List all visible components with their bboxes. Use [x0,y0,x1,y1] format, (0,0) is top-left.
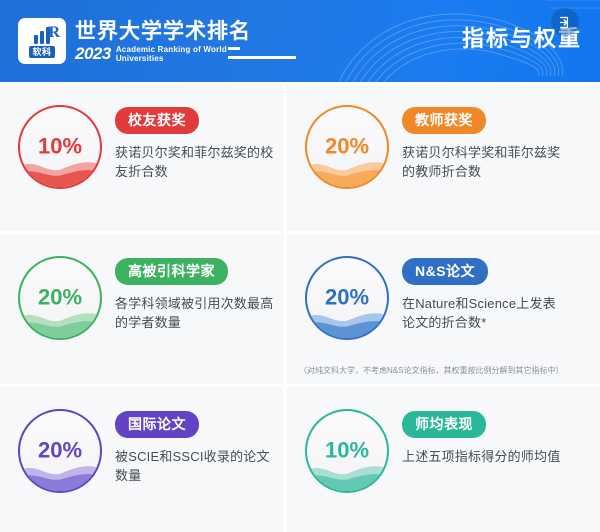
indicator-description: 获诺贝尔科学奖和菲尔兹奖的教师折合数 [402,143,562,181]
weight-percent: 20% [307,136,387,158]
sign-in-arrow-glyph [558,15,573,30]
weight-percent: 10% [307,440,387,462]
indicator-label: N&S论文 [402,258,488,285]
indicator-description: 被SCIE和SSCI收录的论文数量 [115,447,275,485]
card-body: 高被引科学家 各学科领域被引用次数最高的学者数量 [115,254,275,332]
card-body: N&S论文 在Nature和Science上发表论文的折合数* [402,254,592,332]
card-body: 教师获奖 获诺贝尔科学奖和菲尔兹奖的教师折合数 [402,103,592,181]
indicator-label: 高被引科学家 [115,258,228,285]
page-root: R 软科 世界大学学术排名 2023 Academic Ranking of W… [0,0,600,523]
indicator-card-award[interactable]: 20% 教师获奖 获诺贝尔科学奖和菲尔兹奖的教师折合数 [287,85,600,231]
indicator-label: 师均表现 [402,411,486,438]
weight-percent: 20% [20,287,100,309]
weight-percent: 20% [20,440,100,462]
brand-subtitle-row: 2023 Academic Ranking of World Universit… [75,45,251,63]
weight-donut: 20% [18,409,102,493]
indicator-label: 国际论文 [115,411,199,438]
app-header: R 软科 世界大学学术排名 2023 Academic Ranking of W… [0,0,600,82]
shanghairanking-logo[interactable]: R 软科 [18,18,66,64]
weight-donut: 10% [305,409,389,493]
card-body: 师均表现 上述五项指标得分的师均值 [402,407,592,466]
card-body: 校友获奖 获诺贝尔奖和菲尔兹奖的校友折合数 [115,103,275,181]
weight-donut: 20% [305,256,389,340]
indicator-grid: 10% 校友获奖 获诺贝尔奖和菲尔兹奖的校友折合数 20% [0,82,600,523]
indicator-description: 上述五项指标得分的师均值 [402,447,562,466]
weight-donut: 20% [305,105,389,189]
indicator-label: 教师获奖 [402,107,486,134]
indicator-card-pcp[interactable]: 10% 师均表现 上述五项指标得分的师均值 [287,387,600,532]
indicator-label: 校友获奖 [115,107,199,134]
brand-year: 2023 [75,45,111,62]
indicator-card-alumni[interactable]: 10% 校友获奖 获诺贝尔奖和菲尔兹奖的校友折合数 [0,85,283,231]
logo-text: 软科 [29,46,54,58]
weight-percent: 10% [20,136,100,158]
indicator-card-hici[interactable]: 20% 高被引科学家 各学科领域被引用次数最高的学者数量 [0,234,283,384]
brand-title-en: Academic Ranking of World Universities [116,45,240,63]
weight-donut: 20% [18,256,102,340]
sign-in-icon[interactable] [551,8,579,36]
indicator-card-ns[interactable]: 20% N&S论文 在Nature和Science上发表论文的折合数* （对纯文… [287,234,600,384]
indicator-description: 获诺贝尔奖和菲尔兹奖的校友折合数 [115,143,275,181]
weight-donut: 10% [18,105,102,189]
brand-text-block: 世界大学学术排名 2023 Academic Ranking of World … [75,20,251,63]
indicator-description: 各学科领域被引用次数最高的学者数量 [115,294,275,332]
indicator-footnote: （对纯文科大学，不考虑N&S论文指标，其权重按比例分解到其它指标中） [299,365,594,376]
indicator-description: 在Nature和Science上发表论文的折合数* [402,294,562,332]
indicator-card-pub[interactable]: 20% 国际论文 被SCIE和SSCI收录的论文数量 [0,387,283,532]
brand-title-cn: 世界大学学术排名 [75,20,251,44]
card-body: 国际论文 被SCIE和SSCI收录的论文数量 [115,407,275,485]
logo-letter: R [48,25,60,41]
weight-percent: 20% [307,287,387,309]
